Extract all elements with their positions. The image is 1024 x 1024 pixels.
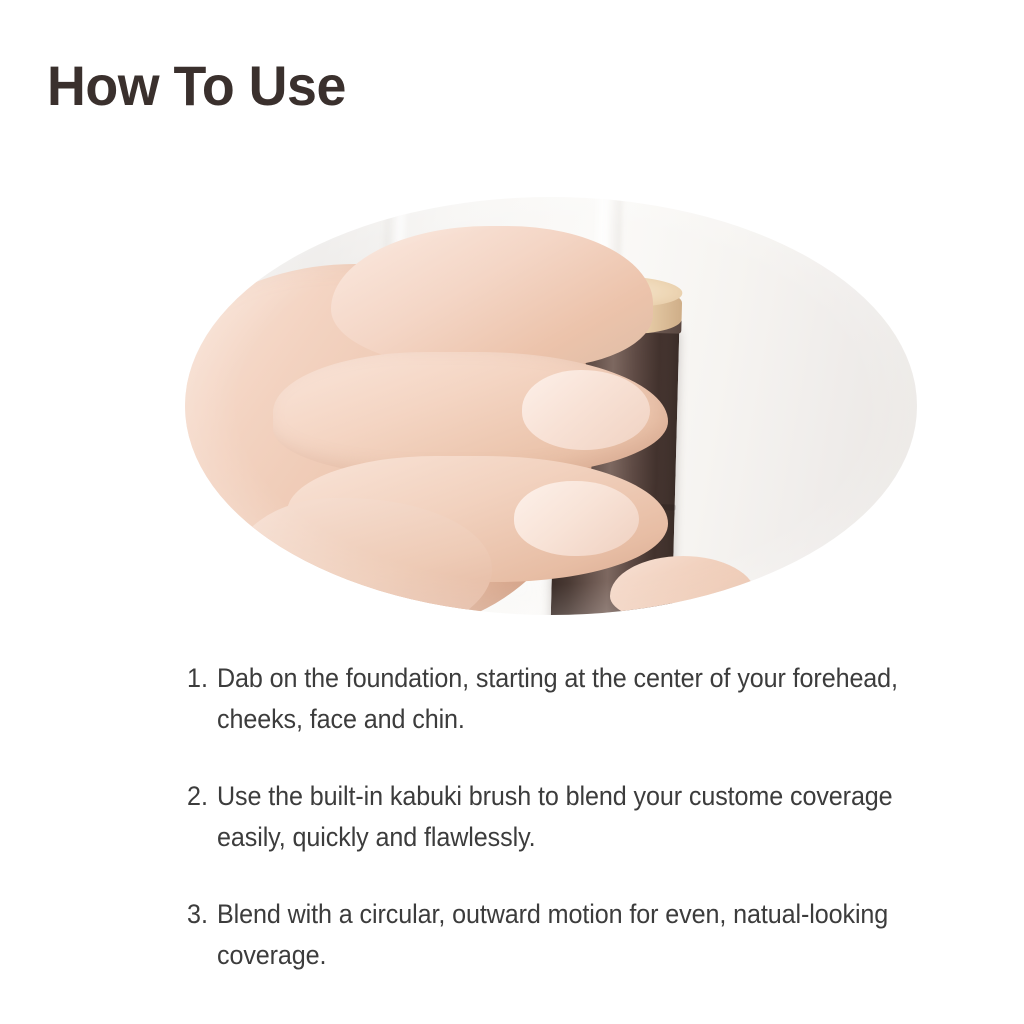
step-number: 2. (187, 776, 215, 817)
step-text: Use the built-in kabuki brush to blend y… (217, 776, 924, 858)
middle-finger-nail (522, 370, 650, 449)
list-item: 3. Blend with a circular, outward motion… (187, 894, 977, 976)
step-text: Dab on the foundation, starting at the c… (217, 658, 924, 740)
photo-backdrop (185, 197, 917, 615)
list-item: 2. Use the built-in kabuki brush to blen… (187, 776, 977, 858)
product-usage-photo (185, 197, 917, 615)
ring-finger-nail (514, 481, 638, 556)
index-finger (331, 226, 653, 368)
hand (185, 197, 917, 615)
step-text: Blend with a circular, outward motion fo… (217, 894, 924, 976)
step-number: 1. (187, 658, 215, 699)
list-item: 1. Dab on the foundation, starting at th… (187, 658, 977, 740)
page-title: How To Use (47, 56, 346, 116)
pinky-fingertip (610, 556, 756, 615)
step-number: 3. (187, 894, 215, 935)
how-to-use-steps: 1. Dab on the foundation, starting at th… (147, 658, 977, 976)
